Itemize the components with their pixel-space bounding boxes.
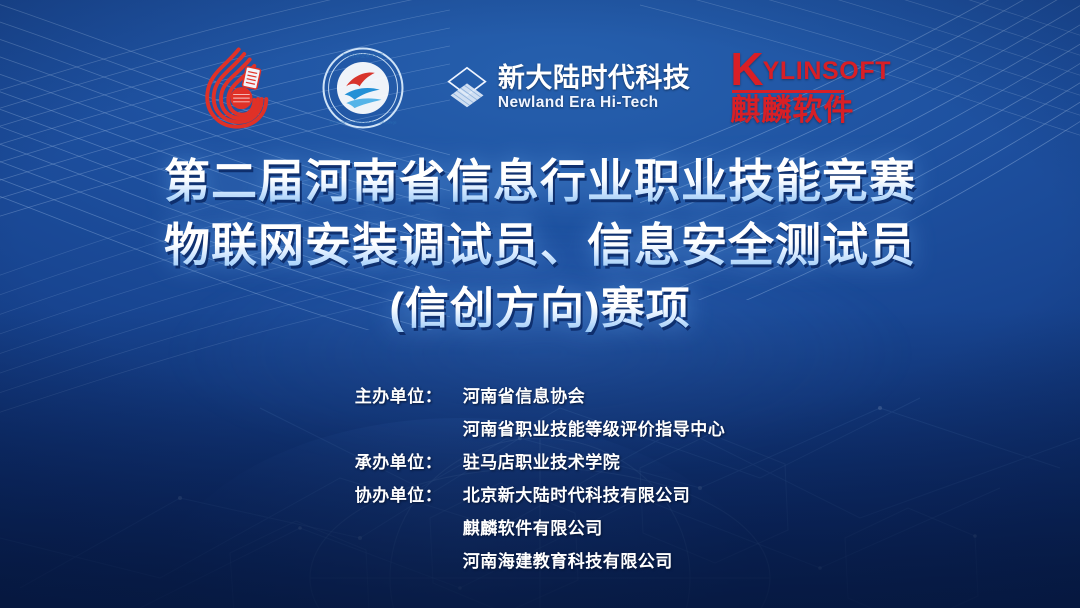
- logo-zhumadian-vocational-college: 驻马店职业技术学院 Zhumadian Vocational and Techn…: [321, 46, 405, 130]
- kylinsoft-k-letter: K: [730, 50, 762, 89]
- organizer-row: 河南海建教育科技有限公司: [355, 547, 726, 572]
- organizer-row: 主办单位： 河南省信息协会: [355, 382, 726, 407]
- organizer-row: 河南省职业技能等级评价指导中心: [355, 415, 726, 440]
- organizer-value: 河南省信息协会: [463, 382, 586, 407]
- organizer-label: 承办单位：: [355, 448, 463, 473]
- kylinsoft-name-cn: 麒麟软件: [730, 96, 854, 126]
- competition-banner: 驻马店职业技术学院 Zhumadian Vocational and Techn…: [0, 0, 1080, 608]
- title-line-3: (信创方向)赛项: [0, 284, 1080, 334]
- organizer-row: 麒麟软件有限公司: [355, 514, 726, 539]
- organizer-row: 协办单位： 北京新大陆时代科技有限公司: [355, 481, 726, 506]
- logo-newland-era-hi-tech: 新大陆时代科技 Newland Era Hi-Tech: [445, 65, 691, 111]
- organizer-block: 主办单位： 河南省信息协会 河南省职业技能等级评价指导中心 承办单位： 驻马店职…: [0, 382, 1080, 572]
- organizer-label: 主办单位：: [355, 382, 463, 407]
- organizer-value: 河南海建教育科技有限公司: [463, 547, 673, 572]
- logo-kylinsoft: K YLINSOFT 麒麟软件: [730, 50, 891, 126]
- logo-henan-skills-competition: [189, 42, 281, 134]
- sponsor-logo-bar: 驻马店职业技术学院 Zhumadian Vocational and Techn…: [0, 40, 1080, 136]
- flame-emblem-icon: [189, 42, 281, 134]
- organizer-label: 协办单位：: [355, 481, 463, 506]
- newland-name-en: Newland Era Hi-Tech: [498, 95, 691, 111]
- diamond-icon: [445, 65, 489, 111]
- organizer-value: 麒麟软件有限公司: [463, 514, 603, 539]
- banner-title-block: 第二届河南省信息行业职业技能竞赛 物联网安装调试员、信息安全测试员 (信创方向)…: [0, 155, 1080, 334]
- svg-text:驻马店职业技术学院: 驻马店职业技术学院: [343, 52, 384, 59]
- newland-name-cn: 新大陆时代科技: [498, 65, 691, 92]
- kylinsoft-rule: [732, 90, 844, 93]
- title-line-1: 第二届河南省信息行业职业技能竞赛: [0, 155, 1080, 207]
- kylinsoft-name-en: YLINSOFT: [763, 59, 891, 89]
- circular-seal-icon: 驻马店职业技术学院 Zhumadian Vocational and Techn…: [321, 46, 405, 130]
- title-line-2: 物联网安装调试员、信息安全测试员: [0, 219, 1080, 271]
- organizer-value: 驻马店职业技术学院: [463, 448, 621, 473]
- organizer-value: 河南省职业技能等级评价指导中心: [463, 415, 726, 440]
- svg-text:Zhumadian Vocational and Techn: Zhumadian Vocational and Technical Colle…: [329, 120, 396, 124]
- organizer-row: 承办单位： 驻马店职业技术学院: [355, 448, 726, 473]
- organizer-value: 北京新大陆时代科技有限公司: [463, 481, 691, 506]
